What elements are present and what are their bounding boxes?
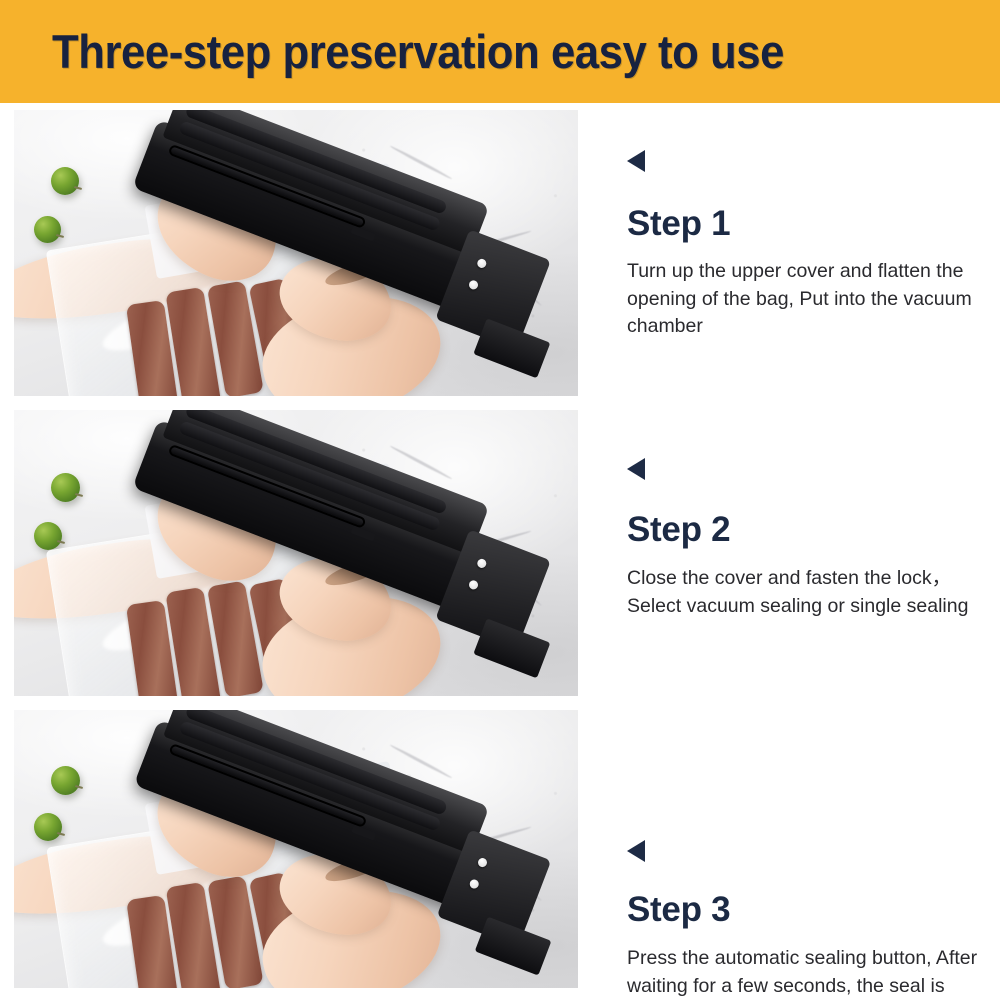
sealer-button	[476, 857, 488, 869]
sealer-button	[476, 558, 488, 570]
sealer-button	[468, 279, 480, 291]
step-description: Close the cover and fasten the lock，Sele…	[627, 565, 985, 620]
page-title: Three-step preservation easy to use	[52, 24, 784, 79]
green-fruit	[34, 522, 62, 550]
step-photo	[14, 410, 578, 696]
green-fruit	[34, 813, 62, 841]
step-title: Step 1	[627, 204, 730, 244]
step-title: Step 3	[627, 890, 730, 930]
step-description: Press the automatic sealing button, Afte…	[627, 945, 985, 1000]
step-title: Step 2	[627, 510, 730, 550]
step-text-column: Step 2 Close the cover and fasten the lo…	[627, 410, 987, 696]
green-fruit	[51, 766, 80, 795]
green-fruit	[51, 473, 80, 502]
sealer-button	[468, 878, 480, 890]
header-banner: Three-step preservation easy to use	[0, 0, 1000, 103]
sealer-button	[476, 258, 488, 270]
left-triangle-icon	[627, 840, 645, 862]
green-fruit	[34, 216, 61, 243]
infographic-page: Three-step preservation easy to use	[0, 0, 1000, 1000]
step-row: Step 3 Press the automatic sealing butto…	[0, 710, 1000, 988]
sealer-button	[468, 579, 480, 591]
left-triangle-icon	[627, 150, 645, 172]
step-text-column: Step 3 Press the automatic sealing butto…	[627, 710, 987, 988]
step-photo	[14, 710, 578, 988]
step-description: Turn up the upper cover and flatten the …	[627, 258, 985, 341]
left-triangle-icon	[627, 458, 645, 480]
step-row: Step 1 Turn up the upper cover and flatt…	[0, 110, 1000, 396]
step-row: Step 2 Close the cover and fasten the lo…	[0, 410, 1000, 696]
green-fruit	[51, 167, 79, 195]
step-photo	[14, 110, 578, 396]
step-text-column: Step 1 Turn up the upper cover and flatt…	[627, 110, 987, 396]
